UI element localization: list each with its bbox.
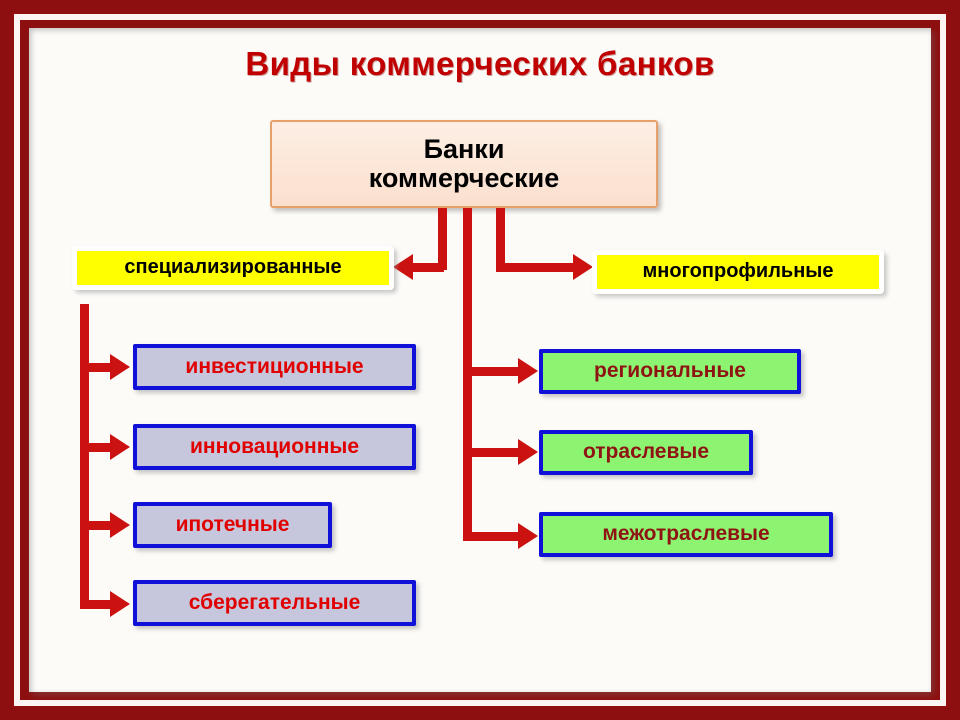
connector-specialized-to-mortgage bbox=[80, 521, 113, 530]
node-multiprofile-banks[interactable]: многопрофильные bbox=[592, 250, 884, 294]
arrowhead-to-savings bbox=[110, 591, 130, 617]
node-interbranch-label: межотраслевые bbox=[602, 523, 769, 546]
node-investment-banks[interactable]: инвестиционные bbox=[133, 344, 416, 390]
node-interbranch-banks[interactable]: межотраслевые bbox=[539, 512, 833, 557]
node-root-commercial-banks[interactable]: Банки коммерческие bbox=[270, 120, 658, 208]
connector-specialized-trunk bbox=[80, 304, 89, 609]
node-innovation-label: инновационные bbox=[190, 436, 359, 459]
arrowhead-to-interbranch bbox=[518, 523, 538, 549]
node-mortgage-label: ипотечные bbox=[176, 514, 290, 537]
connector-specialized-to-innovation bbox=[80, 443, 113, 452]
node-regional-label: региональные bbox=[594, 360, 746, 383]
node-innovation-banks[interactable]: инновационные bbox=[133, 424, 416, 470]
node-savings-banks[interactable]: сберегательные bbox=[133, 580, 416, 626]
connector-multiprofile-to-branch bbox=[463, 448, 521, 457]
connector-multiprofile-to-regional bbox=[463, 367, 521, 376]
arrowhead-to-multiprofile bbox=[573, 254, 593, 280]
arrowhead-to-branch bbox=[518, 439, 538, 465]
node-root-line-2: коммерческие bbox=[369, 164, 560, 193]
connector-multiprofile-to-interbranch bbox=[463, 532, 521, 541]
node-root-line-1: Банки bbox=[424, 135, 505, 164]
arrowhead-to-innovation bbox=[110, 434, 130, 460]
connector-root-to-specialized-vertical bbox=[438, 208, 447, 270]
arrowhead-to-regional bbox=[518, 358, 538, 384]
node-branch-label: отраслевые bbox=[583, 441, 709, 464]
node-branch-banks[interactable]: отраслевые bbox=[539, 430, 753, 475]
arrowhead-to-invest bbox=[110, 354, 130, 380]
node-savings-label: сберегательные bbox=[189, 592, 361, 615]
connector-root-to-specialized-horizontal bbox=[412, 263, 444, 272]
slide: Виды коммерческих банков Банки коммерчес… bbox=[0, 0, 960, 720]
node-specialized-banks[interactable]: специализированные bbox=[72, 246, 394, 290]
connector-specialized-to-savings bbox=[80, 600, 113, 609]
arrowhead-to-mortgage bbox=[110, 512, 130, 538]
node-mortgage-banks[interactable]: ипотечные bbox=[133, 502, 332, 548]
node-investment-label: инвестиционные bbox=[185, 356, 363, 379]
page-title: Виды коммерческих банков bbox=[0, 45, 960, 83]
connector-root-to-multiprofile-horizontal bbox=[496, 263, 576, 272]
node-specialized-label: специализированные bbox=[124, 257, 341, 279]
connector-root-to-multiprofile-vertical bbox=[496, 208, 505, 270]
arrowhead-to-specialized bbox=[393, 254, 413, 280]
connector-specialized-to-invest bbox=[80, 363, 113, 372]
node-multiprofile-label: многопрофильные bbox=[643, 261, 834, 283]
node-regional-banks[interactable]: региональные bbox=[539, 349, 801, 394]
